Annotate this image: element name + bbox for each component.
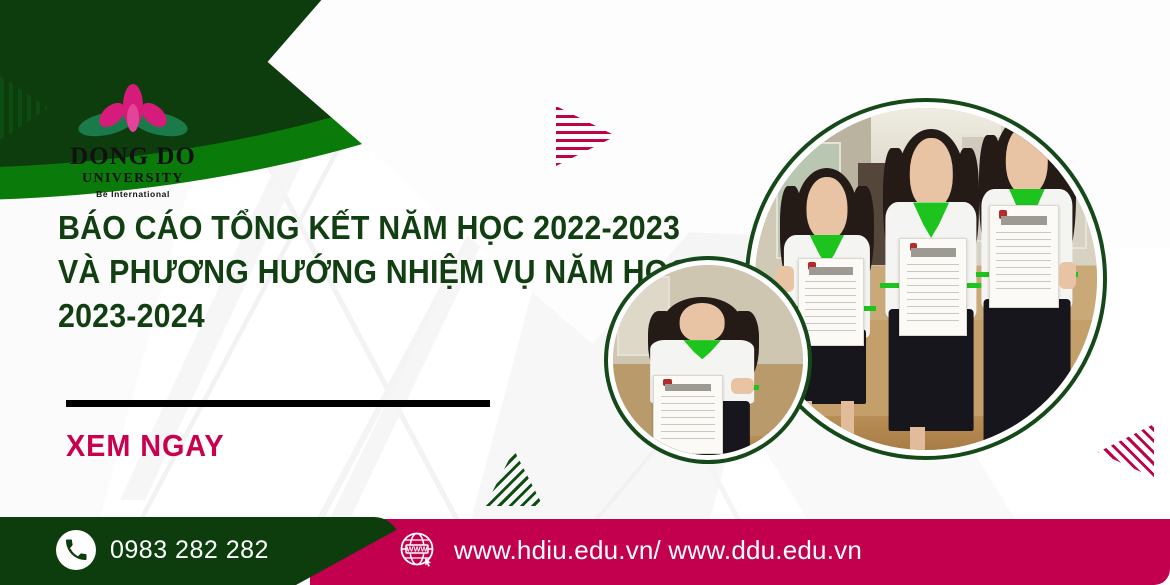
phone-number: 0983 282 282	[110, 536, 269, 565]
website-url: www.hdiu.edu.vn/ www.ddu.edu.vn	[454, 535, 862, 566]
document-paper	[899, 238, 967, 336]
logo-subname: UNIVERSITY	[58, 172, 208, 186]
logo-tagline: Be International	[58, 190, 208, 199]
student-right	[974, 115, 1080, 450]
document-paper	[653, 375, 723, 454]
globe-www-icon: WWW	[398, 530, 438, 570]
logo-name: DONG DO	[58, 144, 208, 169]
headline-line-3: 2023-2024	[58, 294, 592, 338]
headline-line-1: BÁO CÁO TỔNG KẾT NĂM HỌC 2022-2023	[58, 206, 592, 250]
students-group-photo	[755, 108, 1097, 450]
document-paper	[989, 205, 1059, 308]
headline-line-2: VÀ PHƯƠNG HƯỚNG NHIỆM VỤ NĂM HỌC	[58, 250, 592, 294]
svg-text:WWW: WWW	[406, 545, 428, 554]
phone-icon	[56, 530, 96, 570]
photo-circle-small	[604, 256, 812, 464]
contact-phone[interactable]: 0983 282 282	[56, 530, 269, 570]
student-solo	[643, 295, 761, 455]
cta-button[interactable]: XEM NGAY	[66, 428, 225, 464]
lotus-icon	[78, 84, 188, 138]
student-center	[878, 129, 984, 450]
university-logo: DONG DO UNIVERSITY Be International	[58, 84, 208, 199]
contact-website[interactable]: WWW www.hdiu.edu.vn/ www.ddu.edu.vn	[398, 530, 862, 570]
divider	[66, 400, 490, 407]
promo-banner: DONG DO UNIVERSITY Be International BÁO …	[0, 0, 1170, 585]
student-single-photo	[613, 265, 803, 455]
page-title: BÁO CÁO TỔNG KẾT NĂM HỌC 2022-2023 VÀ PH…	[58, 206, 592, 338]
